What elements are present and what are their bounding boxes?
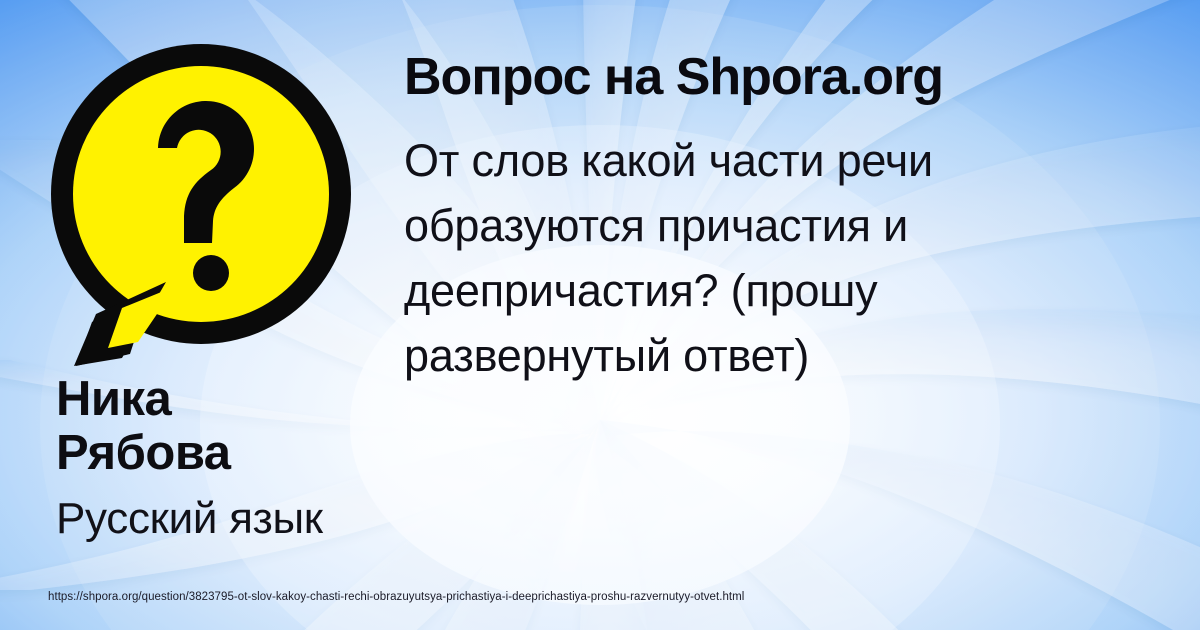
question-speech-bubble-svg (34, 36, 364, 366)
author-block: Ника Рябова Русский язык (56, 372, 386, 544)
content-block: Вопрос на Shpora.org От слов какой части… (404, 48, 1094, 388)
source-url[interactable]: https://shpora.org/question/3823795-ot-s… (48, 591, 744, 603)
author-name: Ника Рябова (56, 372, 386, 480)
og-image-card: Ника Рябова Русский язык Вопрос на Shpor… (0, 0, 1200, 630)
subject-label: Русский язык (56, 494, 386, 544)
question-text: От слов какой части речи образуются прич… (404, 128, 1094, 388)
question-speech-bubble-icon (34, 36, 364, 366)
site-title: Вопрос на Shpora.org (404, 48, 1094, 106)
